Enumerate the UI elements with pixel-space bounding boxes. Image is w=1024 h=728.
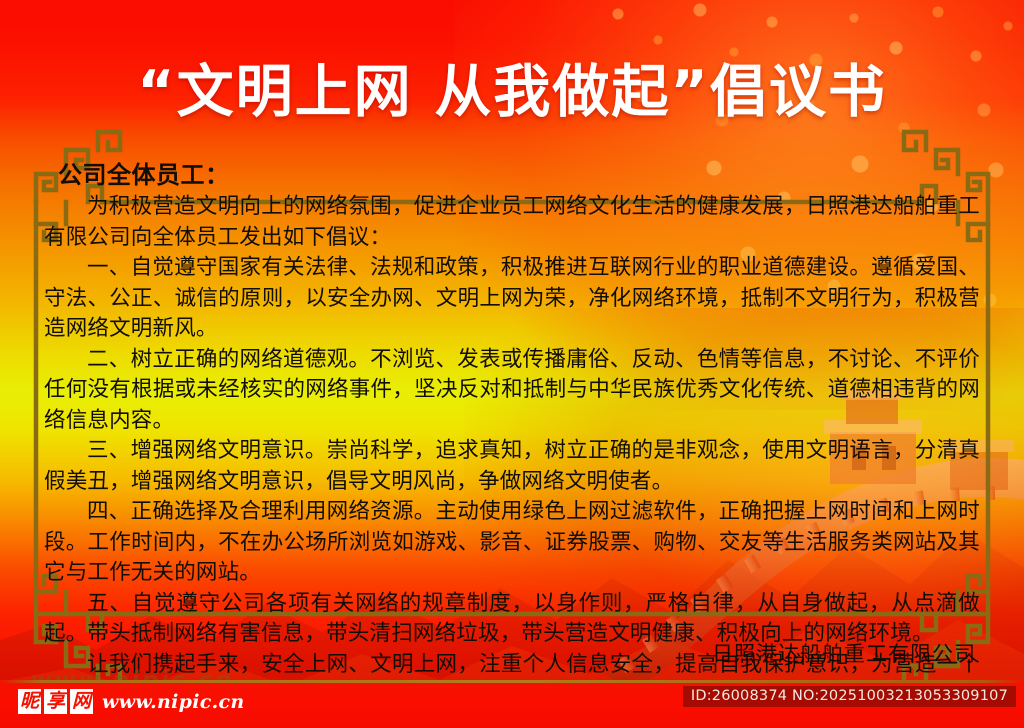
page-title: “文明上网 从我做起”倡议书: [0, 46, 1024, 128]
footer-bar: 昵 享 网 www.nipic.cn ID:26008374 NO:202510…: [0, 680, 1024, 728]
salutation: 公司全体员工：: [58, 160, 980, 190]
paragraph-item-3: 三、增强网络文明意识。崇尚科学，追求真知，树立正确的是非观念，使用文明语言，分清…: [44, 436, 980, 497]
logo-char-3: 网: [70, 689, 93, 714]
letter-body: 公司全体员工： 为积极营造文明向上的网络氛围，促进企业员工网络文化生活的健康发展…: [44, 160, 980, 711]
site-url: www.nipic.cn: [102, 691, 244, 713]
image-id-tag: ID:26008374 NO:20251003213053309107: [683, 686, 1016, 707]
footer-divider: [0, 680, 1024, 683]
site-watermark: 昵 享 网 www.nipic.cn: [18, 689, 245, 714]
paragraph-item-4: 四、正确选择及合理利用网络资源。主动使用绿色上网过滤软件，正确把握上网时间和上网…: [44, 497, 980, 589]
logo-char-2: 享: [44, 689, 67, 714]
paragraph-intro: 为积极营造文明向上的网络氛围，促进企业员工网络文化生活的健康发展，日照港达船舶重…: [44, 192, 980, 253]
signature-line: 日照港达船舶重工有限公司: [712, 638, 976, 668]
nipic-logo: 昵 享 网: [18, 689, 93, 714]
paragraph-item-2: 二、树立正确的网络道德观。不浏览、发表或传播庸俗、反动、色情等信息，不讨论、不评…: [44, 345, 980, 437]
poster-canvas: “文明上网 从我做起”倡议书: [0, 0, 1024, 728]
logo-char-1: 昵: [18, 689, 41, 714]
paragraph-item-1: 一、自觉遵守国家有关法律、法规和政策，积极推进互联网行业的职业道德建设。遵循爱国…: [44, 253, 980, 345]
